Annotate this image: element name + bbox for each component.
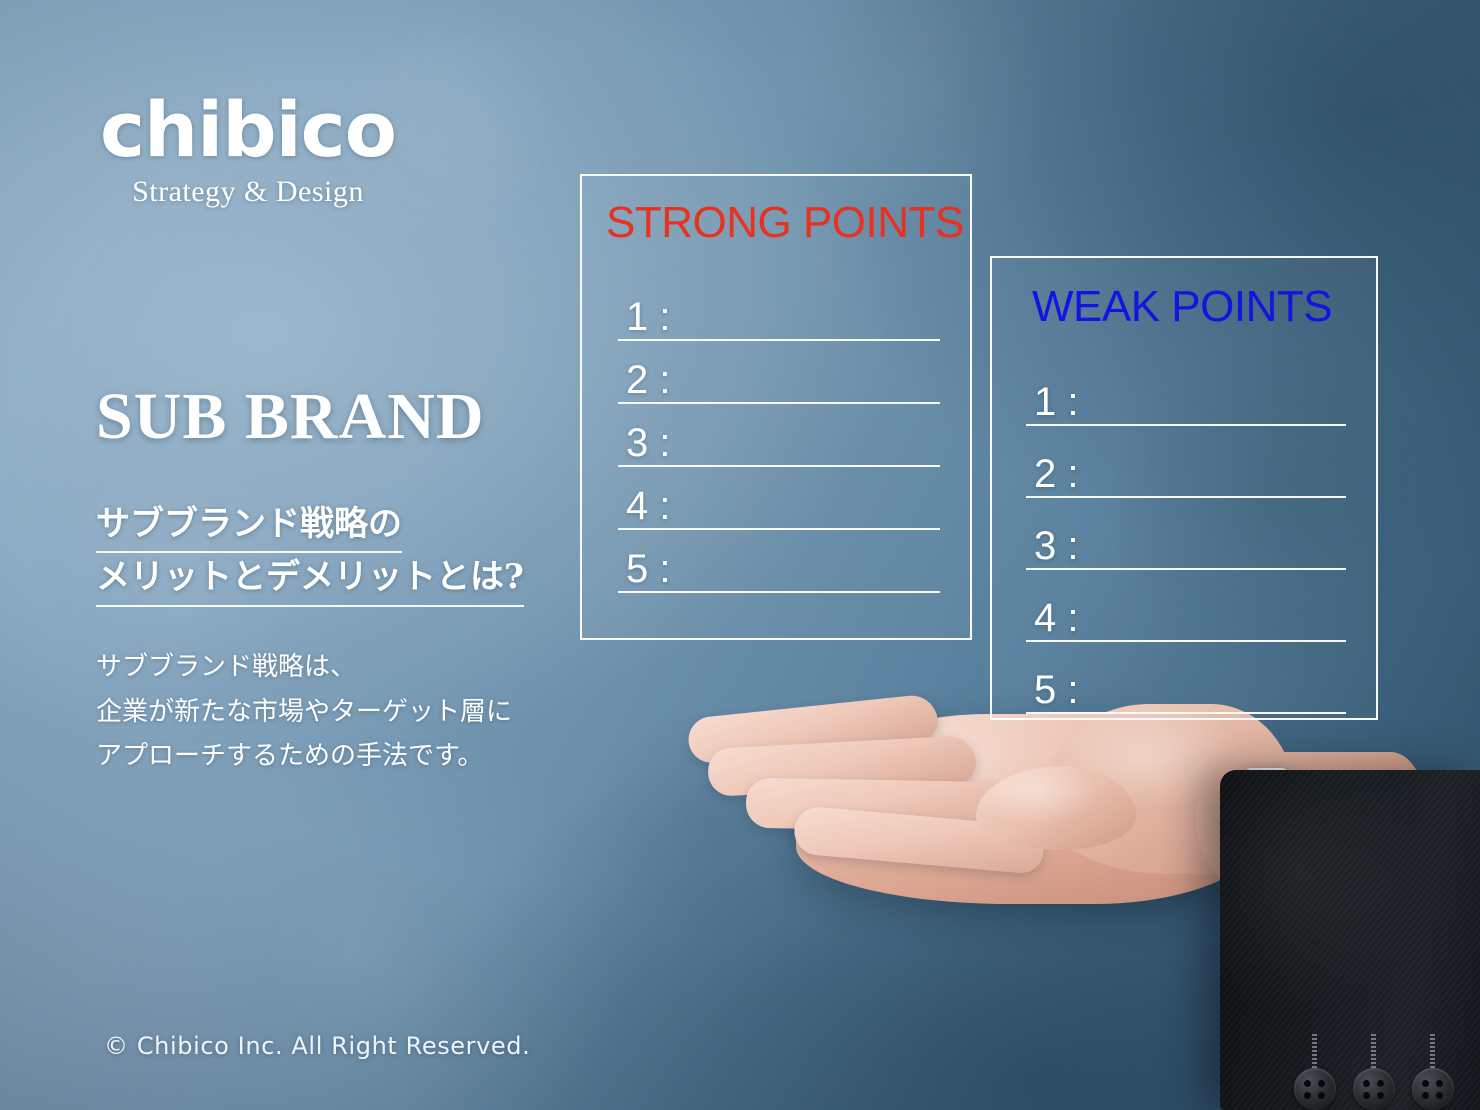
- row-label: 1 :: [1034, 382, 1078, 422]
- row-label: 2 :: [626, 360, 670, 400]
- row-label: 3 :: [1034, 526, 1078, 566]
- weak-points-card: WEAK POINTS 1 : 2 : 3 : 4 : 5 :: [990, 256, 1378, 720]
- sleeve-button-1: [1294, 1068, 1336, 1110]
- strong-row-2[interactable]: 2 :: [618, 341, 940, 404]
- weak-row-5[interactable]: 5 :: [1026, 642, 1346, 714]
- button-thread: [1430, 1034, 1435, 1070]
- strong-points-title: STRONG POINTS: [606, 198, 964, 248]
- strong-row-5[interactable]: 5 :: [618, 530, 940, 593]
- body-copy: サブブランド戦略は、 企業が新たな市場やターゲット層に アプローチするための手法…: [96, 645, 512, 779]
- weak-row-2[interactable]: 2 :: [1026, 426, 1346, 498]
- body-line-1: サブブランド戦略は、: [96, 645, 512, 690]
- weak-row-3[interactable]: 3 :: [1026, 498, 1346, 570]
- strong-row-1[interactable]: 1 :: [618, 278, 940, 341]
- sleeve-button-2: [1353, 1068, 1395, 1110]
- body-line-2: 企業が新たな市場やターゲット層に: [96, 690, 512, 735]
- suit-sleeve: [1220, 770, 1480, 1110]
- weak-row-4[interactable]: 4 :: [1026, 570, 1346, 642]
- strong-points-card: STRONG POINTS 1 : 2 : 3 : 4 : 5 :: [580, 174, 972, 640]
- body-line-3: アプローチするための手法です。: [96, 734, 512, 779]
- headline-line-1: サブブランド戦略の: [96, 500, 402, 553]
- row-label: 4 :: [626, 486, 670, 526]
- row-label: 5 :: [1034, 670, 1078, 710]
- row-label: 5 :: [626, 549, 670, 589]
- weak-points-title: WEAK POINTS: [1032, 282, 1332, 332]
- weak-row-1[interactable]: 1 :: [1026, 354, 1346, 426]
- row-label: 2 :: [1034, 454, 1078, 494]
- sleeve-button-3: [1412, 1068, 1454, 1110]
- row-label: 3 :: [626, 423, 670, 463]
- strong-row-4[interactable]: 4 :: [618, 467, 940, 530]
- strong-row-3[interactable]: 3 :: [618, 404, 940, 467]
- logo-tagline: Strategy & Design: [100, 177, 396, 207]
- row-label: 1 :: [626, 297, 670, 337]
- button-thread: [1312, 1034, 1317, 1070]
- headline-line-2: メリットとデメリットとは?: [96, 553, 524, 606]
- logo-wordmark: chibico: [100, 92, 396, 168]
- weak-points-rows: 1 : 2 : 3 : 4 : 5 :: [992, 354, 1376, 714]
- headline: サブブランド戦略の メリットとデメリットとは?: [96, 500, 524, 607]
- sleeve-buttons: [1294, 1068, 1454, 1110]
- copyright-notice: © Chibico Inc. All Right Reserved.: [104, 1032, 530, 1060]
- slide-canvas: chibico Strategy & Design SUB BRAND サブブラ…: [0, 0, 1480, 1110]
- page-title: SUB BRAND: [96, 384, 485, 450]
- button-thread: [1371, 1034, 1376, 1070]
- row-label: 4 :: [1034, 598, 1078, 638]
- sleeve-shading: [1220, 770, 1480, 1110]
- brand-logo: chibico Strategy & Design: [100, 92, 396, 207]
- strong-points-rows: 1 : 2 : 3 : 4 : 5 :: [582, 278, 970, 593]
